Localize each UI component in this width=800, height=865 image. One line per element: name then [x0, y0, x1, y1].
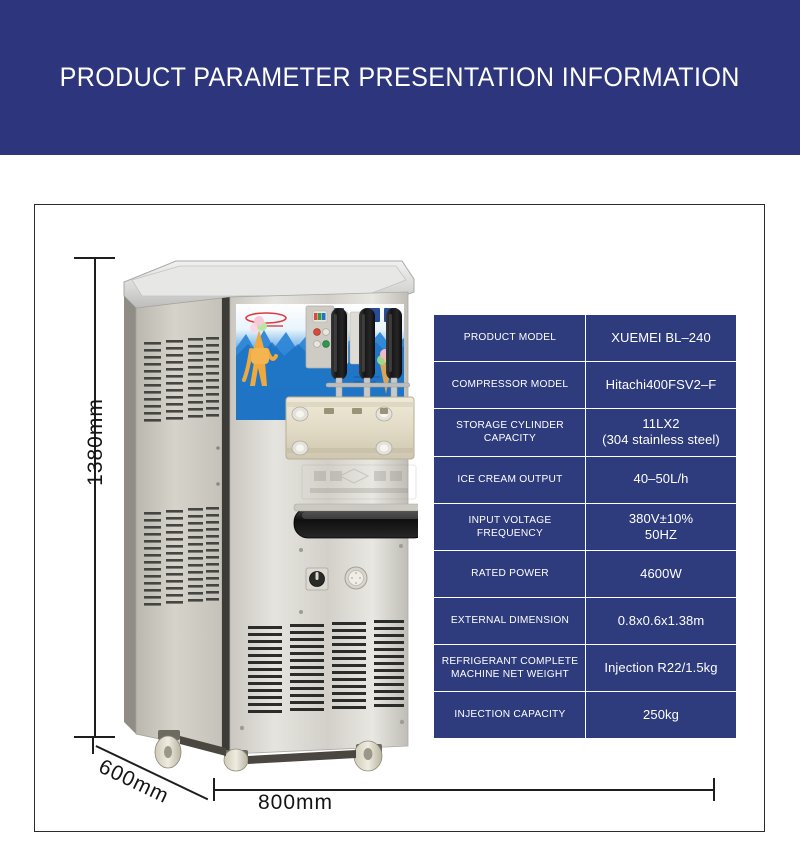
- product-photo-ice-cream-machine: [118, 252, 418, 772]
- table-row: COMPRESSOR MODELHitachi400FSV2–F: [434, 362, 737, 409]
- spec-value: 11LX2(304 stainless steel): [586, 409, 737, 457]
- drip-tray-handle: [294, 504, 418, 538]
- table-row: INPUT VOLTAGE FREQUENCY380V±10%50HZ: [434, 503, 737, 551]
- specification-table: PRODUCT MODELXUEMEI BL–240COMPRESSOR MOD…: [433, 314, 737, 739]
- spec-key: ICE CREAM OUTPUT: [436, 456, 583, 503]
- machine-front-face: [230, 292, 418, 754]
- width-dimension-cap-right: [713, 778, 715, 801]
- spec-value: Injection R22/1.5kg: [586, 645, 737, 692]
- table-row: EXTERNAL DIMENSION0.8x0.6x1.38m: [434, 598, 737, 645]
- spec-value: 250kg: [586, 692, 737, 739]
- spec-value: XUEMEI BL–240: [586, 315, 737, 362]
- pressure-gauge: [345, 567, 367, 589]
- height-dimension-cap-bottom: [74, 736, 115, 738]
- machine-side-panel: [124, 296, 222, 752]
- spec-value: 380V±10%50HZ: [586, 503, 737, 551]
- header-banner: PRODUCT PARAMETER PRESENTATION INFORMATI…: [0, 0, 800, 155]
- spec-key: STORAGE CYLINDER CAPACITY: [436, 409, 583, 457]
- dispensing-head: [286, 397, 414, 459]
- height-dimension-label: 1380mm: [84, 382, 108, 502]
- table-row: ICE CREAM OUTPUT40–50L/h: [434, 456, 737, 503]
- depth-dimension-cap: [92, 737, 94, 754]
- spec-key: COMPRESSOR MODEL: [436, 362, 583, 409]
- spec-value: Hitachi400FSV2–F: [586, 362, 737, 409]
- spec-value: 4600W: [586, 551, 737, 598]
- spec-value: 40–50L/h: [586, 456, 737, 503]
- table-row: STORAGE CYLINDER CAPACITY11LX2(304 stain…: [434, 409, 737, 457]
- spec-table-body: PRODUCT MODELXUEMEI BL–240COMPRESSOR MOD…: [434, 315, 737, 739]
- width-dimension-label: 800mm: [258, 791, 333, 815]
- spec-key: RATED POWER: [436, 551, 583, 598]
- spec-key: INPUT VOLTAGE FREQUENCY: [436, 503, 583, 551]
- spec-key: INJECTION CAPACITY: [436, 692, 583, 739]
- page-title: PRODUCT PARAMETER PRESENTATION INFORMATI…: [60, 62, 740, 93]
- spec-value: 0.8x0.6x1.38m: [586, 598, 737, 645]
- spec-key: PRODUCT MODEL: [436, 315, 583, 362]
- spec-key: EXTERNAL DIMENSION: [436, 598, 583, 645]
- table-row: INJECTION CAPACITY250kg: [434, 692, 737, 739]
- table-row: REFRIGERANT COMPLETE MACHINE NET WEIGHTI…: [434, 645, 737, 692]
- table-row: RATED POWER4600W: [434, 551, 737, 598]
- table-row: PRODUCT MODELXUEMEI BL–240: [434, 315, 737, 362]
- spec-key: REFRIGERANT COMPLETE MACHINE NET WEIGHT: [436, 645, 583, 692]
- rotary-switch: [306, 568, 328, 590]
